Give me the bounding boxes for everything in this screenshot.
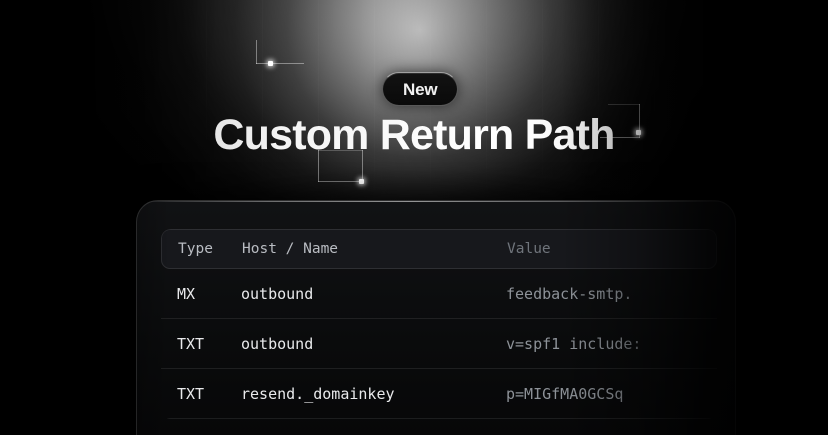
cell-host: resend._domainkey xyxy=(241,385,506,403)
cell-type: TXT xyxy=(161,335,241,353)
column-header-value: Value xyxy=(507,241,716,257)
marker-line-vertical xyxy=(256,40,257,64)
dns-records-card: Type Host / Name Value MX outbound feedb… xyxy=(136,200,736,435)
table-row[interactable]: TXT outbound v=spf1 include: xyxy=(161,319,717,369)
page-title: Custom Return Path xyxy=(0,112,828,159)
dns-records-table: Type Host / Name Value MX outbound feedb… xyxy=(161,229,717,419)
column-header-host: Host / Name xyxy=(242,241,507,257)
new-badge: New xyxy=(382,72,458,106)
table-row[interactable]: MX outbound feedback-smtp. xyxy=(161,269,717,319)
marker-dot xyxy=(268,61,273,66)
table-header-row: Type Host / Name Value xyxy=(161,229,717,269)
cell-host: outbound xyxy=(241,285,506,303)
cell-host: outbound xyxy=(241,335,506,353)
new-badge-label: New xyxy=(403,81,437,98)
marker-line-horizontal-bottom xyxy=(318,181,363,182)
marker-line-horizontal-top xyxy=(608,104,640,105)
table-row[interactable]: TXT resend._domainkey p=MIGfMA0GCSq xyxy=(161,369,717,419)
marker-line-horizontal xyxy=(256,63,304,64)
cell-value: v=spf1 include: xyxy=(506,335,717,353)
cell-type: MX xyxy=(161,285,241,303)
hero-banner: New Custom Return Path Type Host / Name … xyxy=(0,0,828,435)
corner-marker-icon-left xyxy=(256,40,304,68)
marker-dot xyxy=(359,179,364,184)
cell-type: TXT xyxy=(161,385,241,403)
column-header-type: Type xyxy=(162,241,242,257)
cell-value: p=MIGfMA0GCSq xyxy=(506,385,717,403)
cell-value: feedback-smtp. xyxy=(506,285,717,303)
